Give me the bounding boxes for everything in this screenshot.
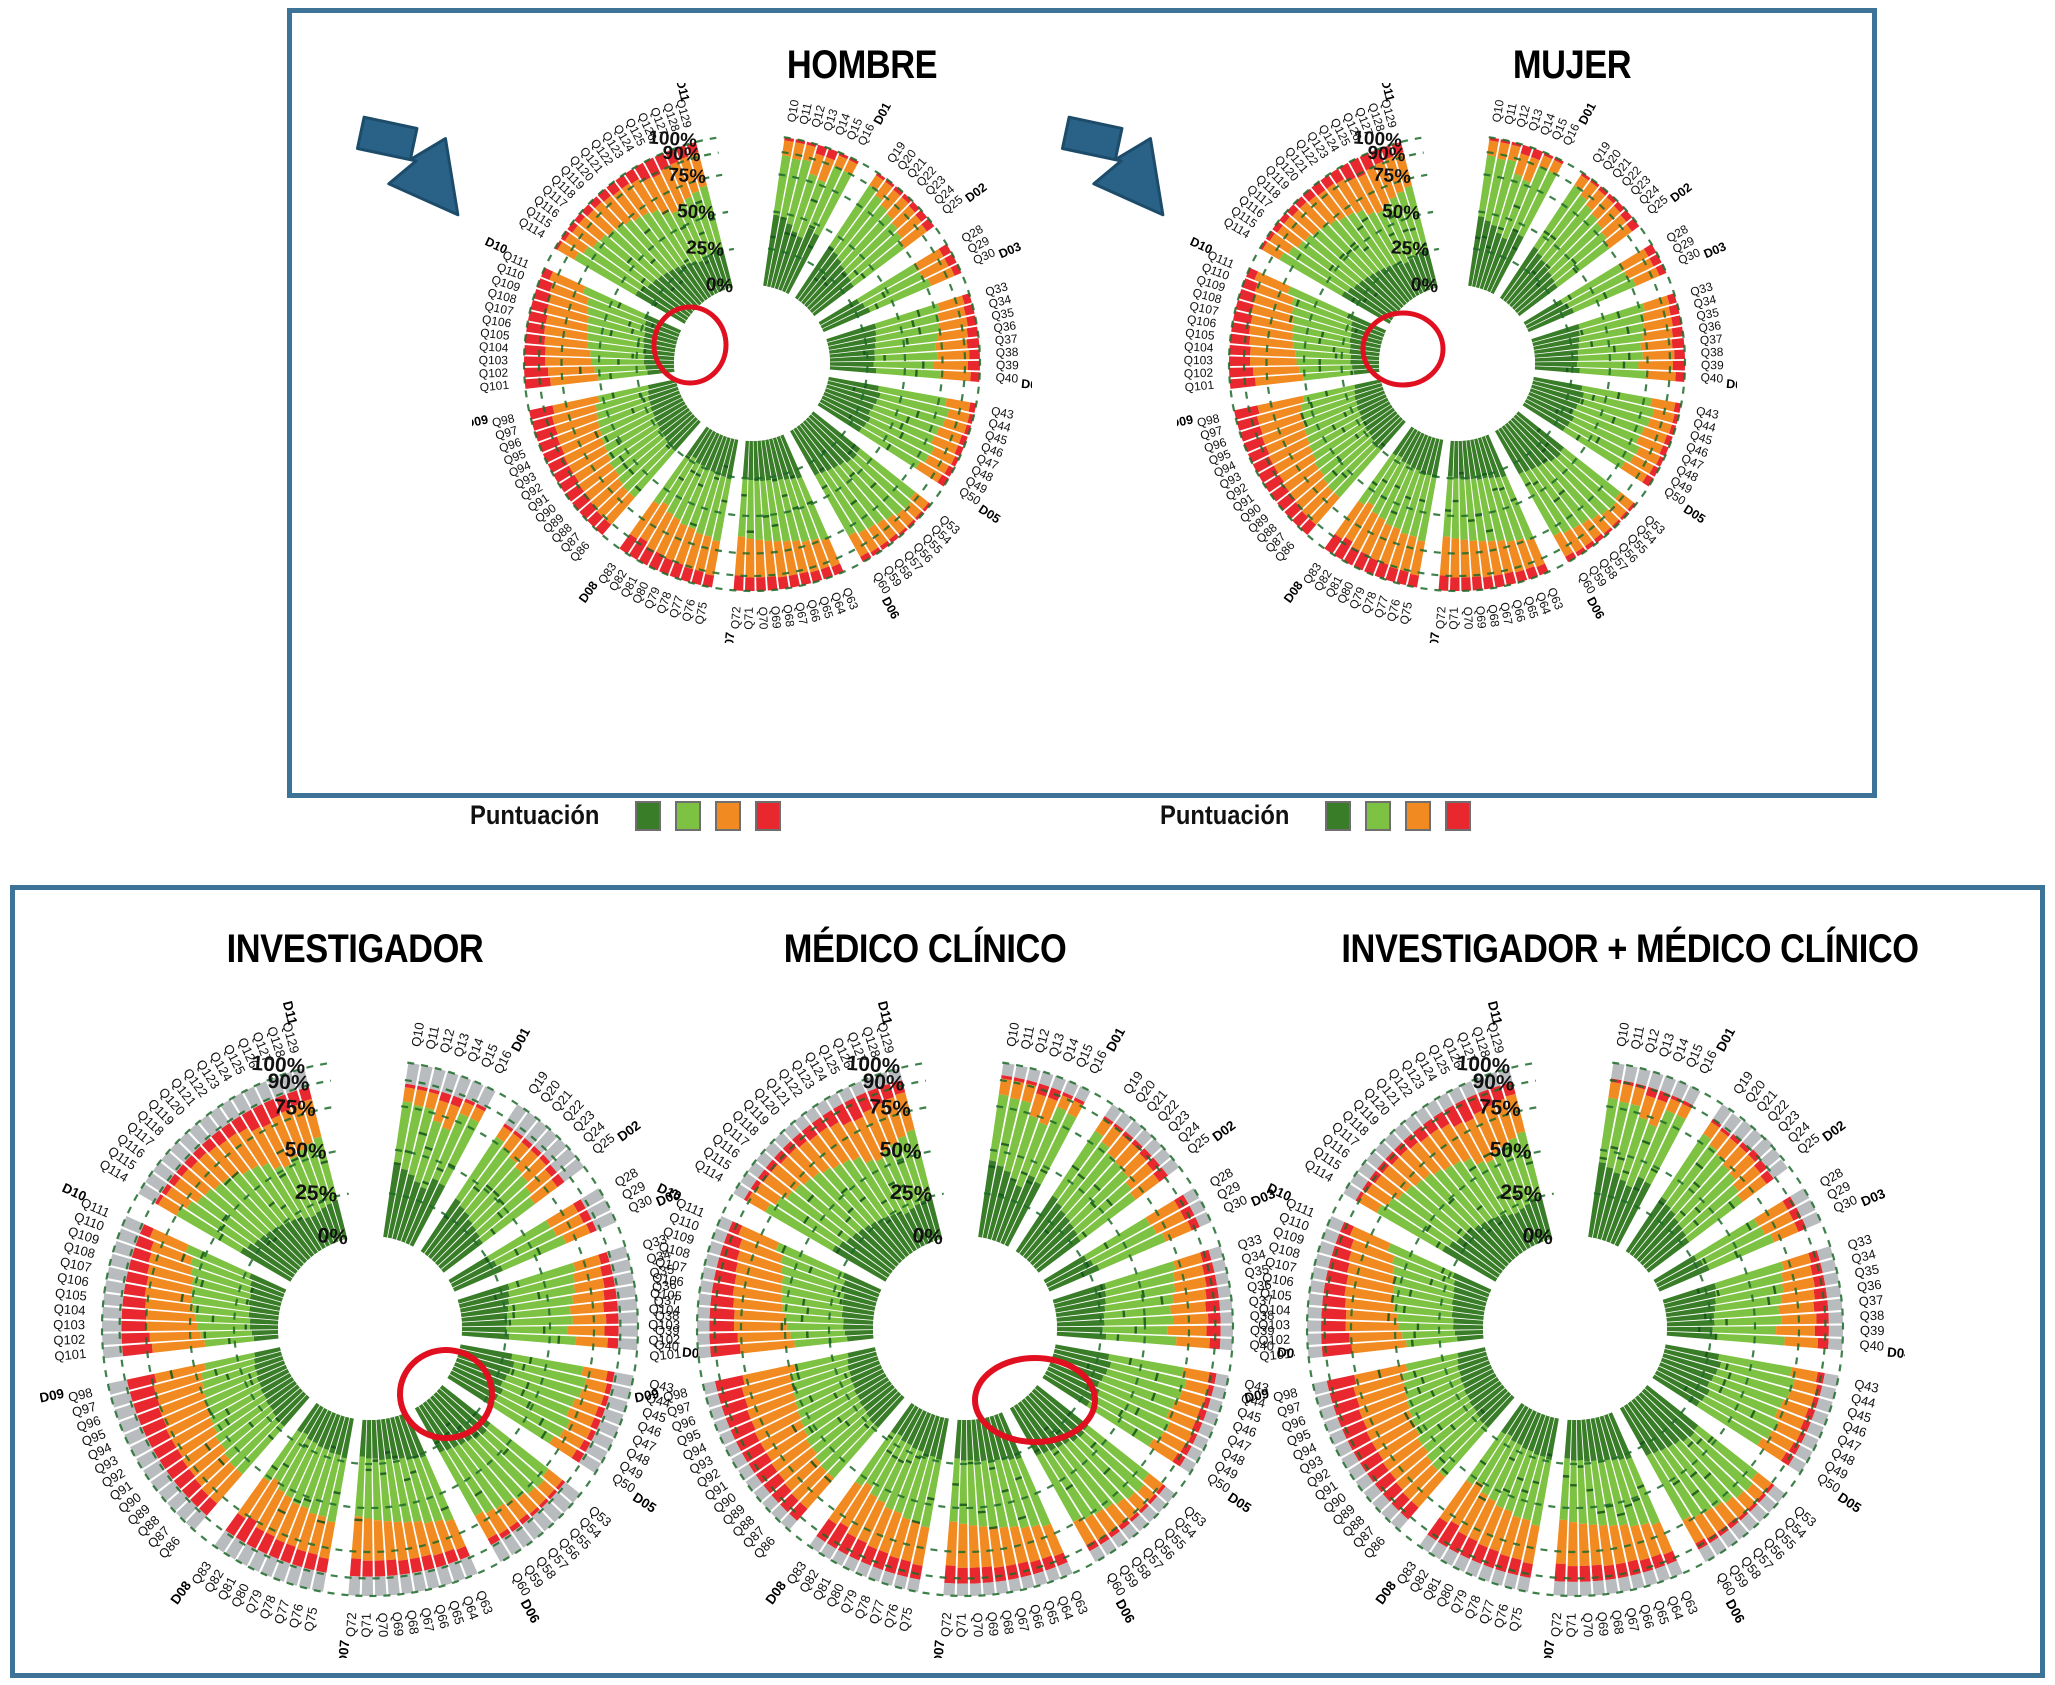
domain-label: D07 (930, 1639, 947, 1658)
bar-segment (1571, 1420, 1577, 1461)
bar-segment (603, 1288, 617, 1300)
chart-title-hombre: HOMBRE (681, 43, 1042, 88)
bar-segment (1556, 1520, 1568, 1564)
bar-segment (697, 1333, 710, 1345)
bar-segment (943, 1583, 955, 1596)
bar-segment (1569, 1460, 1577, 1522)
legend-swatch-3 (1405, 801, 1431, 831)
question-label: Q70 (756, 606, 771, 630)
legend-swatch-1 (1325, 801, 1351, 831)
bar-segment (845, 1330, 873, 1336)
bar-marker (747, 530, 754, 532)
bar-segment (1443, 477, 1453, 537)
radial-tick-label: 25% (294, 1181, 338, 1207)
domain-label: D07 (721, 631, 737, 643)
bar-segment (799, 572, 811, 586)
bar-segment (410, 1557, 423, 1573)
bar-segment (316, 1557, 329, 1573)
bar-marker (1335, 353, 1338, 358)
bar-segment (1220, 1338, 1233, 1350)
bar-marker (245, 1324, 247, 1329)
question-label: Q69 (1594, 1611, 1611, 1637)
question-label: Q104 (648, 1301, 681, 1318)
bar-segment (958, 1524, 968, 1568)
bar-segment (1520, 1562, 1533, 1578)
domain-label: D06 (1723, 1597, 1748, 1626)
bar-segment (121, 1321, 146, 1331)
bar-segment (1221, 1326, 1233, 1337)
bar-segment (957, 1584, 968, 1596)
domain-label: D06 (1584, 595, 1607, 622)
bar-marker (960, 1504, 968, 1506)
bar-segment (714, 1270, 737, 1285)
domain-label: D04 (1886, 1345, 1905, 1362)
bar-segment (1645, 371, 1675, 381)
question-label: Q69 (984, 1611, 1001, 1637)
bar-segment (1453, 1324, 1483, 1329)
circular-chart-investigador-medico[interactable]: Q10Q11Q12Q13Q14Q15Q16D01Q19Q20Q21Q22Q23Q… (1245, 998, 1905, 1658)
bar-segment (1399, 1323, 1454, 1330)
bar-segment (738, 1332, 791, 1343)
question-label: Q103 (479, 353, 509, 367)
legend-hombre: Puntuación (470, 800, 781, 831)
inner-hole (873, 1236, 1057, 1420)
bar-segment (1448, 441, 1454, 477)
bar-segment (1620, 1084, 1634, 1103)
bar-segment (1828, 1312, 1842, 1324)
circular-chart-medico-clinico[interactable]: Q10Q11Q12Q13Q14Q15Q16D01Q19Q20Q21Q22Q23Q… (635, 998, 1295, 1658)
bar-segment (570, 1302, 604, 1314)
domain-label: D07 (1426, 631, 1442, 643)
bar-segment (1667, 1332, 1716, 1340)
bar-segment (1611, 1063, 1624, 1080)
bar-segment (1307, 1320, 1321, 1331)
bar-segment (1673, 361, 1685, 371)
bar-segment (970, 1583, 982, 1596)
bar-marker (781, 1323, 783, 1331)
bar-segment (738, 478, 748, 537)
bar-segment (1674, 349, 1685, 359)
bar-segment (1818, 1338, 1829, 1349)
polar-stacked-bar-svg: Q10Q11Q12Q13Q14Q15Q16D01Q19Q20Q21Q22Q23Q… (1177, 83, 1737, 643)
bar-marker (1445, 509, 1451, 512)
question-label: Q102 (1258, 1332, 1290, 1348)
bar-marker (968, 1462, 974, 1465)
circular-chart-hombre[interactable]: Q10Q11Q12Q13Q14Q15Q16D01Q19Q20Q21Q22Q23Q… (472, 83, 1032, 643)
bar-segment (1176, 1337, 1210, 1349)
bar-segment (1624, 1065, 1638, 1083)
bar-segment (1616, 1562, 1629, 1578)
domain-label: D09 (635, 1386, 660, 1406)
bar-segment (946, 1521, 958, 1565)
bar-segment (697, 1320, 709, 1331)
bar-segment (969, 1525, 980, 1568)
bar-segment (847, 1335, 874, 1342)
circular-chart-investigador[interactable]: Q10Q11Q12Q13Q14Q15Q16D01Q19Q20Q21Q22Q23Q… (40, 998, 700, 1658)
bar-segment (524, 345, 545, 355)
bar-segment (1310, 1280, 1326, 1293)
bar-segment (122, 1308, 147, 1319)
bar-segment (1312, 1267, 1328, 1281)
top-panel: HOMBRE MUJER Q10Q11Q12Q13Q14Q15Q16D01Q19… (287, 8, 1877, 798)
bar-segment (698, 1346, 711, 1358)
bar-segment (970, 1567, 981, 1583)
chart-title-investigador: INVESTIGADOR (123, 927, 587, 972)
bar-segment (1453, 441, 1458, 479)
bar-segment (1716, 1334, 1785, 1346)
legend-title: Puntuación (470, 800, 599, 831)
bar-segment (1580, 1566, 1591, 1582)
bar-segment (1315, 1254, 1331, 1268)
bar-marker (1578, 1465, 1584, 1468)
bar-marker (509, 1320, 512, 1326)
bar-segment (789, 574, 800, 588)
bar-segment (1828, 1338, 1843, 1350)
bar-segment (933, 361, 968, 370)
domain-label: D02 (1210, 1118, 1239, 1145)
bar-segment (152, 1340, 205, 1353)
bar-segment (1308, 1346, 1323, 1358)
radial-tick-label: 50% (1489, 1138, 1533, 1164)
bar-segment (398, 1559, 410, 1574)
bar-segment (1307, 1307, 1322, 1319)
bar-segment (607, 1338, 618, 1349)
bar-segment (961, 1420, 967, 1461)
bar-segment (1618, 1576, 1631, 1592)
question-label: Q103 (648, 1317, 680, 1332)
bar-segment (1636, 1068, 1651, 1086)
question-label: Q102 (1184, 366, 1214, 381)
legend-swatch-4 (755, 801, 781, 831)
bar-segment (606, 1313, 619, 1324)
bar-segment (1627, 1560, 1640, 1576)
bar-segment (1553, 1581, 1565, 1596)
bar-segment (102, 1320, 121, 1331)
domain-label: D09 (40, 1386, 65, 1406)
question-label: Q40 (1700, 370, 1724, 385)
bar-segment (994, 1566, 1006, 1581)
bar-segment (1173, 1314, 1209, 1325)
bar-segment (1106, 1334, 1177, 1346)
question-label: Q37 (1858, 1292, 1884, 1309)
bar-segment (1205, 1300, 1220, 1312)
bar-segment (1206, 1326, 1220, 1337)
question-label: Q103 (1258, 1317, 1290, 1332)
bar-segment (1497, 142, 1509, 160)
question-label: Q102 (648, 1332, 680, 1348)
bar-segment (748, 441, 753, 480)
question-label: Q71 (358, 1613, 373, 1638)
bar-segment (967, 327, 979, 338)
bar-marker (1563, 1475, 1569, 1478)
legend-swatch-4 (1445, 801, 1471, 831)
bar-segment (755, 540, 765, 578)
bar-segment (1559, 1458, 1570, 1520)
bar-segment (1815, 1326, 1829, 1337)
bar-marker (1698, 1327, 1700, 1332)
bar-segment (1352, 1340, 1407, 1353)
bar-segment (102, 1307, 122, 1319)
bar-marker (1387, 1313, 1390, 1321)
domain-label: D02 (1668, 180, 1695, 205)
bar-segment (150, 1332, 201, 1342)
bar-segment (1776, 1326, 1815, 1336)
bar-marker (741, 494, 747, 497)
domain-label: D01 (1103, 1025, 1128, 1054)
bar-segment (1827, 1299, 1842, 1311)
bar-segment (524, 356, 545, 366)
bar-segment (250, 1325, 278, 1330)
bar-segment (364, 1459, 372, 1519)
bar-segment (1648, 1072, 1663, 1090)
domain-label: D01 (871, 100, 894, 127)
bar-segment (1631, 1087, 1645, 1107)
question-label: Q71 (1447, 607, 1461, 630)
bar-segment (362, 1577, 373, 1596)
bar-segment (1219, 1299, 1232, 1311)
question-label: Q72 (728, 606, 743, 630)
domain-label: D03 (997, 239, 1024, 261)
domain-label: D05 (1681, 502, 1708, 526)
bar-segment (712, 1282, 734, 1296)
radial-tick-label: 0% (912, 1224, 944, 1249)
bar-segment (1675, 372, 1685, 382)
domain-label: D08 (762, 1578, 789, 1607)
bar-marker (1570, 1484, 1577, 1486)
bar-segment (304, 1552, 318, 1570)
bar-segment (122, 1296, 146, 1308)
bar-segment (548, 366, 595, 376)
bar-segment (425, 1092, 439, 1110)
domain-label: D09 (1177, 412, 1194, 430)
bar-marker (1116, 1334, 1119, 1341)
domain-label: D01 (1576, 100, 1599, 127)
bar-marker (1134, 1326, 1136, 1333)
bar-segment (1784, 1337, 1818, 1349)
bar-segment (1567, 1582, 1578, 1596)
bar-marker (1413, 1331, 1416, 1338)
bar-segment (1452, 478, 1459, 538)
question-label: Q70 (970, 1612, 986, 1637)
bar-segment (1504, 572, 1516, 586)
bar-segment (944, 1565, 955, 1583)
bar-segment (734, 575, 744, 591)
chart-title-medico-clinico: MÉDICO CLÍNICO (693, 927, 1157, 972)
question-label: Q69 (389, 1611, 406, 1637)
pointer-arrow-hombre (347, 108, 487, 223)
bar-segment (405, 1063, 419, 1086)
bar-segment (351, 1516, 362, 1559)
domain-label: D09 (1245, 1386, 1270, 1406)
bar-segment (1494, 574, 1505, 588)
bar-segment (782, 140, 794, 156)
radial-tick-label: 100% (1456, 1052, 1512, 1079)
radial-tick-label: 75% (868, 1095, 912, 1121)
domain-label: D07 (1540, 1639, 1557, 1658)
bar-segment (1820, 1259, 1836, 1273)
bar-segment (1229, 345, 1250, 355)
bar-segment (506, 1326, 568, 1334)
radial-tick-label: 50% (1381, 201, 1421, 225)
bar-segment (509, 1334, 576, 1345)
radial-tick-label: 100% (648, 127, 698, 151)
bar-marker (1453, 500, 1459, 502)
bar-segment (1495, 1554, 1510, 1572)
bar-marker (1715, 1334, 1718, 1340)
question-label: Q40 (1859, 1337, 1884, 1353)
bar-segment (1002, 1063, 1015, 1077)
bar-segment (1667, 1327, 1713, 1333)
bar-segment (792, 142, 804, 160)
bar-segment (745, 538, 754, 577)
radial-tick-label: 25% (1499, 1181, 1543, 1207)
circular-chart-mujer[interactable]: Q10Q11Q12Q13Q14Q15Q16D01Q19Q20Q21Q22Q23Q… (1177, 83, 1737, 643)
question-label: Q101 (54, 1346, 87, 1364)
bar-marker (922, 361, 924, 368)
bar-segment (680, 567, 693, 583)
bar-segment (1461, 577, 1471, 591)
polar-stacked-bar-svg: Q10Q11Q12Q13Q14Q15Q16D01Q19Q20Q21Q22Q23Q… (40, 998, 700, 1658)
bar-marker (1704, 1314, 1707, 1320)
domain-label: D04 (1021, 377, 1032, 393)
radial-tick-label: 50% (676, 201, 716, 225)
bar-segment (1593, 1580, 1605, 1595)
bar-segment (1535, 362, 1577, 367)
polar-stacked-bar-svg: Q10Q11Q12Q13Q14Q15Q16D01Q19Q20Q21Q22Q23Q… (635, 998, 1295, 1658)
bar-segment (386, 1559, 398, 1576)
bar-segment (362, 1561, 372, 1577)
question-label: Q71 (953, 1613, 968, 1638)
bar-segment (1640, 339, 1672, 350)
bar-segment (524, 367, 548, 377)
bar-segment (1487, 140, 1499, 156)
bar-segment (1631, 1573, 1645, 1589)
domain-label: D05 (976, 502, 1003, 526)
radial-tick-label: 100% (1353, 127, 1403, 151)
bar-segment (698, 1293, 711, 1305)
bar-segment (982, 1566, 994, 1583)
bar-segment (1472, 576, 1483, 590)
radial-tick-label: 50% (284, 1138, 328, 1164)
bar-segment (767, 576, 778, 590)
bar-segment (360, 1420, 367, 1457)
bar-segment (1778, 1302, 1814, 1314)
domain-label: D01 (508, 1025, 533, 1054)
bar-segment (940, 371, 970, 381)
question-label: Q39 (1860, 1323, 1885, 1338)
question-label: Q70 (1580, 1612, 1596, 1637)
polar-stacked-bar-svg: Q10Q11Q12Q13Q14Q15Q16D01Q19Q20Q21Q22Q23Q… (472, 83, 1032, 643)
chart-title-investigador-medico: INVESTIGADOR + MÉDICO CLÍNICO (1282, 927, 1979, 972)
bar-segment (1568, 1522, 1578, 1566)
bar-segment (1508, 1558, 1522, 1576)
bar-segment (1817, 1246, 1834, 1261)
question-label: Q102 (53, 1332, 85, 1348)
domain-label: D05 (1835, 1490, 1864, 1516)
bar-segment (910, 1564, 923, 1580)
bar-segment (735, 536, 745, 575)
bar-segment (1638, 361, 1673, 370)
bar-marker (617, 359, 619, 365)
bar-segment (1168, 1326, 1207, 1336)
bar-segment (747, 480, 754, 539)
bar-marker (1725, 1319, 1728, 1325)
bar-marker (643, 349, 646, 354)
bar-segment (983, 1582, 995, 1595)
bar-segment (462, 1332, 510, 1340)
legend-swatch-3 (715, 801, 741, 831)
bar-marker (952, 1483, 959, 1486)
bar-segment (1253, 366, 1300, 376)
domain-label: D07 (335, 1639, 352, 1658)
bar-segment (124, 1284, 146, 1297)
bar-segment (1457, 1335, 1484, 1342)
pointer-arrow-mujer (1052, 108, 1192, 223)
question-label: Q40 (995, 370, 1019, 385)
bar-segment (830, 366, 877, 373)
bar-segment (843, 1324, 873, 1329)
bar-segment (366, 1420, 372, 1459)
bar-segment (1450, 577, 1460, 591)
bar-segment (710, 1295, 734, 1308)
bar-segment (702, 1267, 716, 1280)
question-label: Q71 (742, 607, 756, 630)
bar-segment (1440, 536, 1450, 575)
question-label: Q72 (343, 1612, 359, 1637)
bar-segment (1813, 1275, 1825, 1287)
question-label: Q72 (938, 1612, 954, 1637)
bar-marker (212, 1315, 215, 1322)
domain-label: D06 (879, 595, 902, 622)
radial-tick-label: 75% (667, 165, 707, 189)
bar-segment (375, 1560, 386, 1576)
bar-marker (863, 351, 866, 356)
bar-segment (525, 378, 551, 389)
domain-label: D03 (1702, 239, 1729, 261)
bar-segment (545, 357, 592, 366)
bar-segment (603, 1276, 615, 1288)
bar-segment (1567, 1566, 1578, 1582)
bar-segment (709, 1321, 734, 1332)
bar-marker (354, 1518, 362, 1521)
bar-marker (1319, 366, 1322, 372)
bar-segment (1308, 1293, 1323, 1305)
bar-segment (1230, 334, 1250, 345)
bar-segment (252, 1330, 279, 1336)
bar-marker (631, 353, 634, 358)
bar-segment (1643, 1570, 1658, 1587)
question-label: Q38 (1859, 1308, 1884, 1324)
radial-tick-label: 0% (317, 1224, 349, 1249)
bar-segment (969, 349, 980, 359)
radial-tick-label: 0% (1410, 274, 1439, 297)
bar-segment (1672, 327, 1684, 338)
domain-label: D06 (1113, 1597, 1138, 1626)
legend-swatch-1 (635, 801, 661, 831)
bar-segment (573, 1314, 607, 1325)
domain-label: D01 (1713, 1025, 1738, 1054)
question-label: Q72 (1433, 606, 1448, 630)
question-label: Q72 (1548, 1612, 1564, 1637)
radial-tick-label: 0% (705, 274, 734, 297)
polar-stacked-bar-svg: Q10Q11Q12Q13Q14Q15Q16D01Q19Q20Q21Q22Q23Q… (1245, 998, 1905, 1658)
domain-label: D06 (518, 1597, 543, 1626)
question-label: Q102 (479, 366, 509, 381)
bar-segment (1439, 575, 1449, 591)
bar-segment (1229, 356, 1250, 366)
bar-segment (603, 1301, 618, 1312)
bar-segment (1813, 1300, 1828, 1312)
